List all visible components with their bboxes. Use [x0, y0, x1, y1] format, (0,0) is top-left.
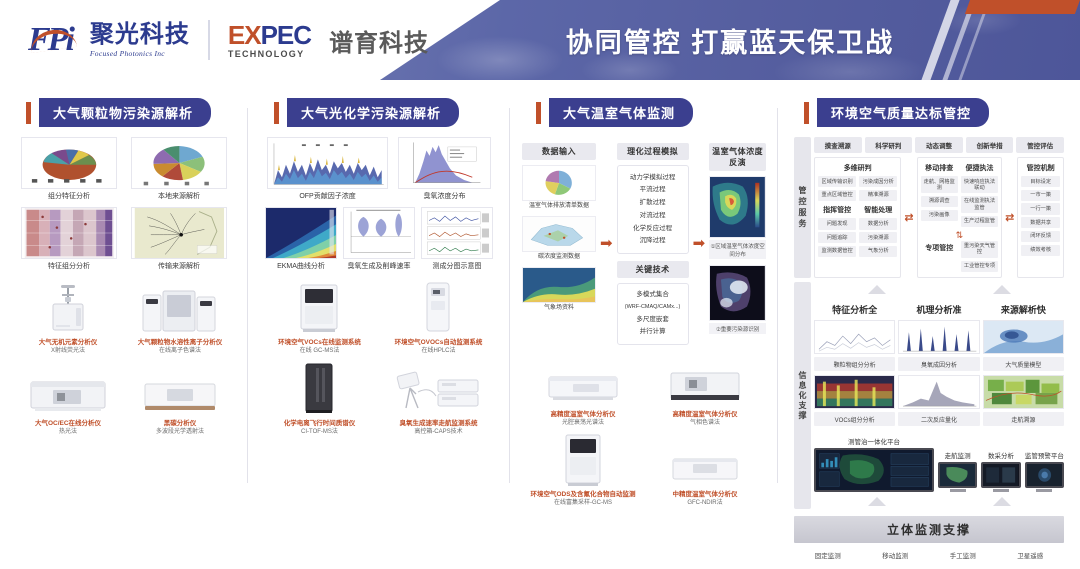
device-item: 大气颗粒物水溶性离子分析仪 在线离子色谱法 — [126, 281, 234, 355]
chart-caption: EKMA曲线分析 — [265, 262, 338, 271]
expec-subtitle: TECHNOLOGY — [228, 50, 311, 59]
data-analysis-screen — [981, 462, 1020, 488]
key-tech-card: 多模式集合 (WRF-CMAQ/CAMx...) 多尺度嵌套 并行计算 — [617, 283, 689, 345]
matrix-cell: 问题发现 — [818, 218, 856, 229]
matrix-cell: 溯源调查 — [921, 196, 958, 207]
exchange-arrow-icon: ⇄ — [1005, 157, 1014, 278]
analysis-columns: 特征分析全 颗粒物组分分析 — [814, 303, 1064, 430]
up-arrow-icon — [868, 285, 886, 294]
matrix-cell: 污染溯源 — [859, 232, 897, 243]
panel-subtitle: 指挥管控 — [818, 205, 856, 215]
support-item: 手工监测 — [950, 550, 976, 560]
panel-subtitle: 智能处理 — [859, 205, 897, 215]
logo-divider — [208, 20, 210, 60]
matrix-cell: 生产过程监管 — [961, 216, 998, 227]
section-bar-icon — [26, 102, 31, 124]
matrix-cell: 监测数据管控 — [818, 246, 856, 257]
governance-grid: 摸查溯源 科学研判 动态调整 创新举措 管控评估 多维研判 区 — [814, 137, 1064, 278]
vertical-label-management: 管控服务 — [794, 137, 811, 278]
device-method: 热光法 — [14, 428, 122, 436]
key-tech-item: 多模式集合 — [621, 289, 685, 302]
device-item: 高精度温室气体分析仪 气相色谱法 — [646, 353, 763, 427]
device-method: CI-TOF-MS法 — [262, 428, 376, 436]
ghg-concentration-map — [709, 176, 766, 238]
violin-plot-image — [343, 207, 416, 259]
platform-displays: 测管治一体化平台 — [814, 436, 1064, 492]
stage-header: 科学研判 — [865, 137, 913, 153]
support-item: 移动监测 — [882, 550, 908, 560]
device-name: 高精度温室气体分析仪 — [524, 410, 641, 419]
matrix-cell: 一行一策 — [1021, 203, 1060, 214]
process-item: 扩散过程 — [621, 197, 685, 210]
analysis-title: 来源解析快 — [983, 303, 1064, 316]
panel-subtitle: 便捷执法 — [961, 163, 998, 173]
main-dashboard-screen — [814, 448, 934, 492]
chart-thumbnails-1: 组分特征分析 — [8, 137, 240, 277]
chart-thumb: 臭氧浓度分布 — [398, 137, 492, 201]
output-caption: ①区域温室气体浓度空间分布 — [709, 240, 766, 259]
flow-head-process: 理化过程模拟 — [617, 143, 689, 160]
flow-input-caption: 气象场资料 — [522, 305, 596, 313]
monitor-stand — [993, 489, 1009, 492]
chart-thumb: 本地来源解析 — [131, 137, 228, 201]
process-items-card: 动力学模拟过程 平流过程 扩散过程 对流过程 化学反应过程 沉降过程 — [617, 165, 689, 254]
secondary-reaction-chart — [898, 375, 979, 409]
section-bar-icon — [536, 102, 541, 124]
matrix-cell: 数据共享 — [1021, 217, 1060, 228]
device-image-vocs-gcms — [262, 281, 376, 335]
governance-panels: 多维研判 区域传输识别 重点区域管控 污染成因分析 精准溯源 — [814, 157, 1064, 278]
matrix-cell: 重点区域管控 — [818, 190, 856, 201]
flow-arrow-right-icon: ➡ — [693, 236, 706, 251]
control-framework: 管控服务 摸查溯源 科学研判 动态调整 创新举措 管控评估 多维研判 — [786, 137, 1072, 560]
flow-head-input: 数据输入 — [522, 143, 596, 160]
device-method: 在线HPLC法 — [381, 347, 495, 355]
vertical-exchange-arrow-icon: ⇅ — [921, 230, 998, 241]
panel-multidim: 多维研判 区域传输识别 重点区域管控 污染成因分析 精准溯源 — [814, 157, 901, 278]
flow-arrow-right-icon: ➡ — [600, 236, 613, 251]
column-photochemical-source: 大气光化学污染源解析 — [248, 84, 510, 513]
mobile-monitoring-screen — [938, 462, 977, 488]
chart-caption: 特征组分分析 — [21, 262, 118, 271]
device-method: X射线荧光法 — [14, 347, 122, 355]
matrix-cell: 精准溯源 — [859, 190, 897, 201]
vocs-component-chart — [814, 375, 895, 409]
output-caption: ②重要污染源识别 — [709, 323, 766, 334]
analysis-caption: 颗粒物组分分析 — [814, 357, 895, 371]
panel-control-mechanism: 管控机制 目标设定 一市一策 一行一策 数据共享 闭环反馈 绩效考核 — [1017, 157, 1064, 278]
chart-thumb: 组分特征分析 — [21, 137, 118, 201]
chart-caption: 组分特征分析 — [21, 192, 118, 201]
device-image-black-carbon — [126, 362, 234, 416]
process-item: 沉降过程 — [621, 235, 685, 248]
column-air-quality-control: 环境空气质量达标管控 管控服务 摸查溯源 科学研判 动态调整 创新举措 管控评估 — [778, 84, 1080, 513]
platform-small: 数采分析 — [981, 450, 1020, 492]
matrix-cell: 气象分析 — [859, 246, 897, 257]
device-name: 化学电离飞行时间质谱仪 — [262, 419, 376, 428]
device-image-ambient-station — [14, 281, 122, 335]
analysis-title: 特征分析全 — [814, 303, 895, 316]
bottom-support-items: 固定监测 移动监测 手工监测 卫星遥感 — [794, 550, 1064, 560]
chart-caption: OFP贡献因子浓度 — [267, 192, 389, 201]
device-item: 环境空气ODS及含氟化合物自动监测 在线富集采样-GC-MS — [524, 433, 641, 507]
section-title-1: 大气颗粒物污染源解析 — [39, 98, 211, 127]
matrix-cell: 目标设定 — [1021, 176, 1060, 187]
expec-pec: PEC — [261, 20, 311, 50]
stacked-area-chart-image — [267, 137, 389, 189]
chart-caption: 本地来源解析 — [131, 192, 228, 201]
chart-caption: 臭氧浓度分布 — [398, 192, 492, 201]
content-columns: 大气颗粒物污染源解析 组分 — [0, 84, 1080, 513]
device-method: 气相色谱法 — [646, 419, 763, 427]
chart-thumb: OFP贡献因子浓度 — [267, 137, 389, 201]
ozone-formation-chart — [898, 320, 979, 354]
device-method: 在线富集采样-GC-MS — [524, 499, 641, 507]
device-item: 大气OC/EC在线分析仪 热光法 — [14, 362, 122, 436]
panel-subtitle: 专项管控 — [921, 243, 958, 253]
device-item: 黑碳分析仪 多波段光学透射法 — [126, 362, 234, 436]
device-item: 中精度温室气体分析仪 GFC-NDIR法 — [646, 433, 763, 507]
timeseries-panels-image — [421, 207, 494, 259]
chart-thumb: 臭氧生成及削峰速率 — [343, 207, 416, 271]
device-method: 高控箱-CAPS技术 — [381, 428, 495, 436]
matrix-cell: 工业管控专项 — [961, 261, 998, 272]
meteorology-field-image — [522, 267, 596, 303]
key-tech-item: (WRF-CMAQ/CAMx...) — [621, 302, 685, 314]
device-image-gc — [646, 353, 763, 407]
chart-thumb: 传输来源解析 — [131, 207, 228, 271]
pollution-source-id-map — [709, 265, 766, 321]
analysis-caption: VOCs组分分析 — [814, 412, 895, 426]
section-header-1: 大气颗粒物污染源解析 — [26, 98, 240, 127]
device-item: 化学电离飞行时间质谱仪 CI-TOF-MS法 — [262, 362, 376, 436]
device-list-3: 高精度温室气体分析仪 光腔衰荡光谱法 高精度温室气体分析仪 气相色谱法 — [518, 349, 770, 514]
matrix-cell: 绩效考核 — [1021, 245, 1060, 256]
logo-group: FPi 聚光科技 Focused Photonics Inc EXPEC TEC… — [28, 20, 429, 60]
flow-input-caption: 碳浓度监测数据 — [522, 254, 596, 262]
platform-title: 走航监测 — [938, 450, 977, 460]
panel-subtitle: 管控机制 — [1021, 163, 1060, 173]
process-item: 化学反应过程 — [621, 222, 685, 235]
chart-thumbnails-2b: EKMA曲线分析 臭氧生成及削峰速率 — [256, 207, 502, 277]
platform-title: 数采分析 — [981, 450, 1020, 460]
up-arrow-icon — [868, 497, 886, 506]
monitor-stand — [1036, 489, 1052, 492]
exchange-arrow-icon: ⇄ — [904, 157, 913, 278]
component-analysis-chart — [814, 320, 895, 354]
air-quality-model-map — [983, 320, 1064, 354]
flow-outputs: 温室气体浓度反演 — [709, 143, 766, 334]
device-image-ndir — [646, 433, 763, 487]
chart-thumb: 特征组分分析 — [21, 207, 118, 271]
device-item: 环境空气VOCs在线监测系统 在线 GC-MS法 — [262, 281, 376, 355]
analysis-caption: 臭氧成因分析 — [898, 357, 979, 371]
support-item: 卫星遥感 — [1017, 550, 1043, 560]
matrix-cell: 数据分析 — [859, 218, 897, 229]
monitor-stand — [950, 489, 966, 492]
analysis-block: 信息化支撑 特征分析全 — [794, 282, 1064, 509]
device-name: 大气颗粒物水溶性离子分析仪 — [126, 338, 234, 347]
device-item: 高精度温室气体分析仪 光腔衰荡光谱法 — [524, 353, 641, 427]
device-method: 在线 GC-MS法 — [262, 347, 376, 355]
device-name: 臭氧生成速率走航监测系统 — [381, 419, 495, 428]
device-list-1: 大气无机元素分析仪 X射线荧光法 大气颗粒物水溶 — [8, 277, 240, 442]
column-greenhouse-gas: 大气温室气体监测 数据输入 — [510, 84, 778, 513]
device-method: 光腔衰荡光谱法 — [524, 419, 641, 427]
fpi-english-name: Focused Photonics Inc — [90, 50, 190, 58]
panel-subtitle: 多维研判 — [818, 163, 897, 173]
panel-subtitle: 移动排查 — [921, 163, 958, 173]
section-header-3: 大气温室气体监测 — [536, 98, 770, 127]
stage-headers: 摸查溯源 科学研判 动态调整 创新举措 管控评估 — [814, 137, 1064, 153]
platform-title: 监管预警平台 — [1025, 450, 1064, 460]
matrix-cell: 一市一策 — [1021, 190, 1060, 201]
pie-chart-image — [21, 137, 118, 189]
device-image-caps-mobile — [381, 362, 495, 416]
flow-process: 理化过程模拟 动力学模拟过程 平流过程 扩散过程 对流过程 化学反应过程 沉降过… — [617, 143, 689, 345]
correlation-heatmap-image — [21, 207, 118, 259]
matrix-cell: 问题追踪 — [818, 232, 856, 243]
matrix-cell: 闭环反馈 — [1021, 231, 1060, 242]
matrix-cell: 快速响应执法联动 — [961, 176, 998, 193]
matrix-cell: 污染画像 — [921, 210, 958, 221]
device-method: 多波段光学透射法 — [126, 428, 234, 436]
vertical-label-informatization: 信息化支撑 — [794, 282, 811, 509]
matrix-cell: 在线监测执法监管 — [961, 196, 998, 213]
device-image-ovocs-hplc — [381, 281, 495, 335]
device-item: 臭氧生成速率走航监测系统 高控箱-CAPS技术 — [381, 362, 495, 436]
histogram-chart-image — [398, 137, 492, 189]
column-particulate-source: 大气颗粒物污染源解析 组分 — [0, 84, 248, 513]
monitoring-map-image — [522, 216, 596, 252]
analysis-column: 特征分析全 颗粒物组分分析 — [814, 303, 895, 430]
section-header-4: 环境空气质量达标管控 — [804, 98, 1072, 127]
poster-header: 协同管控 打赢蓝天保卫战 FPi 聚光科技 Focused Photonics … — [0, 0, 1080, 80]
fpi-logo-mark: FPi — [28, 24, 72, 56]
chart-thumb: EKMA曲线分析 — [265, 207, 338, 271]
device-image-ci-tof-ms — [262, 362, 376, 416]
device-image-ocec-analyzer — [14, 362, 122, 416]
emission-inventory-pie — [522, 165, 596, 201]
bottom-support-bar: 立体监测支撑 — [794, 516, 1064, 543]
expec-ex: EX — [228, 20, 261, 50]
fpi-chinese-logo: 聚光科技 Focused Photonics Inc — [90, 23, 190, 58]
matrix-cell: 走航、网格监测 — [921, 176, 958, 193]
analysis-title: 机理分析准 — [898, 303, 979, 316]
analysis-caption: 二次反应量化 — [898, 412, 979, 426]
stage-header: 摸查溯源 — [814, 137, 862, 153]
platform-small: 监管预警平台 — [1025, 450, 1064, 492]
chart-caption: 传输来源解析 — [131, 262, 228, 271]
pie-chart-image — [131, 137, 228, 189]
device-image-ion-analyzer — [126, 281, 234, 335]
poster-page: 协同管控 打赢蓝天保卫战 FPi 聚光科技 Focused Photonics … — [0, 0, 1080, 569]
flow-head-key-tech: 关键技术 — [617, 261, 689, 278]
platform-title: 测管治一体化平台 — [814, 436, 934, 446]
stage-header: 动态调整 — [915, 137, 963, 153]
matrix-cell: 重污染天气管控 — [961, 241, 998, 258]
device-name: 环境空气VOCs在线监测系统 — [262, 338, 376, 347]
key-tech-item: 并行计算 — [621, 326, 685, 339]
device-item: 大气无机元素分析仪 X射线荧光法 — [14, 281, 122, 355]
section-title-4: 环境空气质量达标管控 — [817, 98, 989, 127]
device-name: 环境空气ODS及含氟化合物自动监测 — [524, 490, 641, 499]
analysis-caption: 大气质量模型 — [983, 357, 1064, 371]
chart-thumbnails-2a: OFP贡献因子浓度 臭氧浓度分布 — [256, 137, 502, 207]
expec-wordmark: EXPEC — [228, 22, 311, 48]
up-arrow-icon — [993, 497, 1011, 506]
section-bar-icon — [804, 102, 809, 124]
panel-mobile-enforcement: 移动排查 走航、网格监测 溯源调查 污染画像 便捷执法 快速响应执法联动 在线监… — [917, 157, 1002, 278]
process-item: 动力学模拟过程 — [621, 171, 685, 184]
section-header-2: 大气光化学污染源解析 — [274, 98, 502, 127]
trajectory-map-image — [131, 207, 228, 259]
process-item: 对流过程 — [621, 209, 685, 222]
device-name: 大气OC/EC在线分析仪 — [14, 419, 122, 428]
device-name: 黑碳分析仪 — [126, 419, 234, 428]
device-image-ods-gcms — [524, 433, 641, 487]
matrix-cell: 污染成因分析 — [859, 176, 897, 187]
stage-header: 创新举措 — [966, 137, 1014, 153]
governance-matrix: 管控服务 摸查溯源 科学研判 动态调整 创新举措 管控评估 多维研判 — [794, 137, 1064, 278]
device-image-crds — [524, 353, 641, 407]
process-item: 平流过程 — [621, 184, 685, 197]
section-bar-icon — [274, 102, 279, 124]
chart-thumb: 测成分图示意图 — [421, 207, 494, 271]
device-name: 大气无机元素分析仪 — [14, 338, 122, 347]
stage-header: 管控评估 — [1016, 137, 1064, 153]
device-name: 中精度温室气体分析仪 — [646, 490, 763, 499]
section-title-3: 大气温室气体监测 — [549, 98, 693, 127]
platform-main: 测管治一体化平台 — [814, 436, 934, 492]
chart-caption: 测成分图示意图 — [421, 262, 494, 271]
analysis-column: 机理分析准 — [898, 303, 979, 430]
device-list-2: 环境空气VOCs在线监测系统 在线 GC-MS法 环境空气OVOCs自动监测系统… — [256, 277, 502, 442]
analysis-column: 来源解析快 大气质量模型 — [983, 303, 1064, 430]
device-name: 环境空气OVOCs自动监测系统 — [381, 338, 495, 347]
matrix-cell: 区域传输识别 — [818, 176, 856, 187]
device-method: GFC-NDIR法 — [646, 499, 763, 507]
early-warning-screen — [1025, 462, 1064, 488]
section-title-2: 大气光化学污染源解析 — [287, 98, 459, 127]
fpi-chinese-name: 聚光科技 — [90, 23, 190, 47]
flow-head-output: 温室气体浓度反演 — [709, 143, 766, 171]
analysis-caption: 走航溯源 — [983, 412, 1064, 426]
flow-input-caption: 温室气体排放清单数据 — [522, 203, 596, 211]
device-method: 在线离子色谱法 — [126, 347, 234, 355]
platform-small: 走航监测 — [938, 450, 977, 492]
up-arrow-icon — [993, 285, 1011, 294]
flow-inputs: 数据输入 温室气体排放清单数据 — [522, 143, 596, 317]
ekma-contour-image — [265, 207, 338, 259]
page-title: 协同管控 打赢蓝天保卫战 — [380, 0, 1080, 80]
expec-logo: EXPEC TECHNOLOGY — [228, 22, 311, 59]
mobile-source-map — [983, 375, 1064, 409]
chart-caption: 臭氧生成及削峰速率 — [343, 262, 416, 271]
device-item: 环境空气OVOCs自动监测系统 在线HPLC法 — [381, 281, 495, 355]
ghg-flow-diagram: 数据输入 温室气体排放清单数据 — [518, 137, 770, 345]
support-item: 固定监测 — [815, 550, 841, 560]
device-name: 高精度温室气体分析仪 — [646, 410, 763, 419]
key-tech-item: 多尺度嵌套 — [621, 313, 685, 326]
puyu-chinese-name: 谱育科技 — [329, 23, 429, 58]
